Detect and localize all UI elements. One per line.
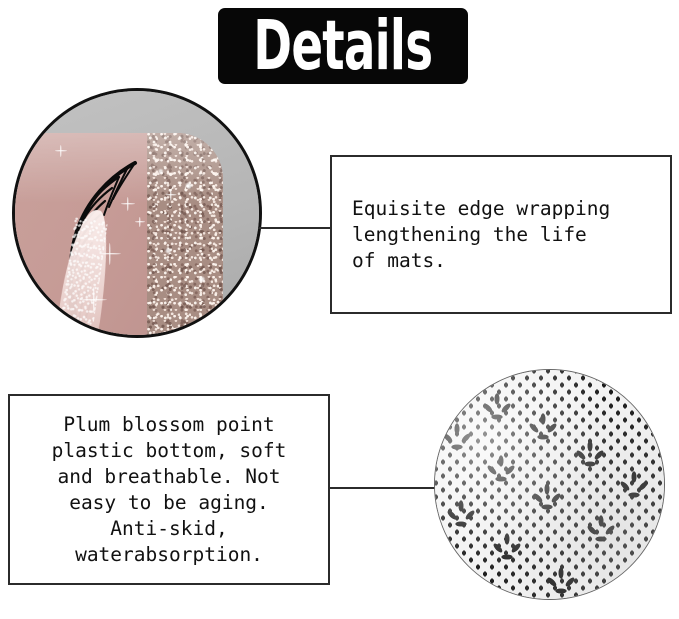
photo-mat-edge-closeup [12, 88, 262, 338]
photo-mat-bottom-closeup [434, 369, 665, 600]
details-title-banner: Details [218, 8, 468, 84]
callout-box-edge-wrapping: Equisite edge wrapping lengthening the l… [330, 155, 672, 314]
callout-text-edge-wrapping: Equisite edge wrapping lengthening the l… [352, 196, 670, 274]
callout-box-plum-blossom: Plum blossom point plastic bottom, soft … [8, 394, 330, 585]
mat-edge-scene [15, 91, 259, 335]
callout-connector-line [328, 487, 438, 489]
callout-connector-line [258, 227, 332, 229]
product-detail-image: Details [0, 0, 679, 619]
plum-blossom-rosette-pattern [435, 370, 665, 600]
callout-text-plum-blossom: Plum blossom point plastic bottom, soft … [20, 412, 318, 568]
eyelash-icon [15, 91, 262, 338]
page-title: Details [253, 12, 432, 80]
